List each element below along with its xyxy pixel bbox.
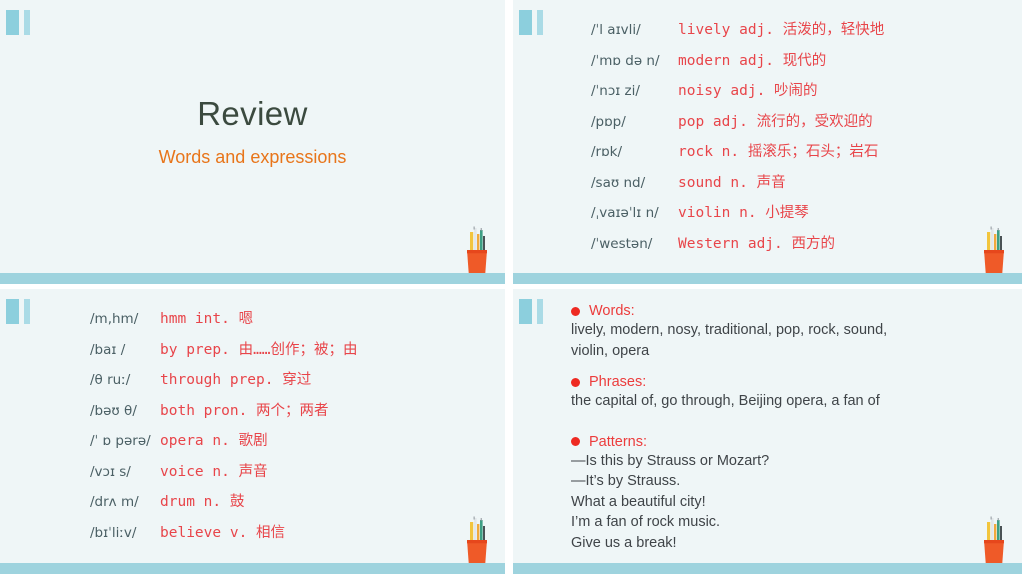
decoration-bar-wide [519, 299, 532, 324]
summary-line: Give us a break! [571, 533, 1004, 554]
phonetic-transcription: /pɒp/ [513, 114, 678, 130]
word-definition: violin n. 小提琴 [678, 201, 809, 222]
phonetic-transcription: /ˈl aɪvli/ [513, 22, 678, 38]
summary-content: Words: lively, modern, nosy, traditional… [571, 303, 1004, 556]
slide-grid: Review Words and expressions /ˈl aɪvli/ … [0, 0, 1024, 577]
footer-band [513, 273, 1022, 284]
summary-heading-patterns: Patterns: [571, 434, 1004, 450]
vocabulary-row: /ˈ ɒ pərə/ opera n. 歌剧 [0, 429, 505, 460]
word-definition: sound n. 声音 [678, 171, 786, 192]
phonetic-transcription: /baɪ / [0, 342, 160, 358]
vocabulary-row: /rɒk/ rock n. 摇滚乐；石头；岩石 [513, 140, 1022, 171]
bullet-dot-icon [571, 307, 580, 316]
title-block: Review Words and expressions [0, 96, 505, 168]
pencil-cup-icon [461, 514, 491, 564]
summary-line: I’m a fan of rock music. [571, 512, 1004, 533]
summary-heading-label: Words: [589, 303, 635, 319]
vocabulary-row: /ˈl aɪvli/ lively adj. 活泼的，轻快地 [513, 18, 1022, 49]
summary-line: —It’s by Strauss. [571, 471, 1004, 492]
summary-heading-words: Words: [571, 303, 1004, 319]
pencil-cup-icon [978, 514, 1008, 564]
summary-line: violin, opera [571, 341, 1004, 362]
phonetic-transcription: /ˈ ɒ pərə/ [0, 433, 160, 449]
spacer [571, 414, 1004, 434]
slide-vocabulary-2[interactable]: /m,hm/ hmm int. 嗯 /baɪ / by prep. 由……创作；… [0, 289, 505, 574]
vocabulary-list-2: /m,hm/ hmm int. 嗯 /baɪ / by prep. 由……创作；… [0, 307, 505, 551]
page-subtitle: Words and expressions [0, 147, 505, 168]
vocabulary-row: /vɔɪ s/ voice n. 声音 [0, 460, 505, 491]
phonetic-transcription: /θ ruː/ [0, 372, 160, 388]
word-definition: through prep. 穿过 [160, 368, 311, 389]
vocabulary-row: /saʊ nd/ sound n. 声音 [513, 171, 1022, 202]
slide-vocabulary-1[interactable]: /ˈl aɪvli/ lively adj. 活泼的，轻快地 /ˈmɒ də n… [513, 0, 1022, 284]
slide-title[interactable]: Review Words and expressions [0, 0, 505, 284]
vocabulary-row: /bəʊ θ/ both pron. 两个；两者 [0, 399, 505, 430]
summary-heading-label: Patterns: [589, 434, 647, 450]
slide-summary[interactable]: Words: lively, modern, nosy, traditional… [513, 289, 1022, 574]
vocabulary-row: /ˈnɔɪ zi/ noisy adj. 吵闹的 [513, 79, 1022, 110]
phonetic-transcription: /ˈnɔɪ zi/ [513, 83, 678, 99]
summary-heading-label: Phrases: [589, 374, 646, 390]
vocabulary-row: /ˌvaɪəˈlɪ n/ violin n. 小提琴 [513, 201, 1022, 232]
bullet-dot-icon [571, 378, 580, 387]
word-definition: pop adj. 流行的，受欢迎的 [678, 110, 873, 131]
phonetic-transcription: /ˈwestən/ [513, 236, 678, 252]
vocabulary-row: /drʌ m/ drum n. 鼓 [0, 490, 505, 521]
word-definition: noisy adj. 吵闹的 [678, 79, 818, 100]
vocabulary-row: /pɒp/ pop adj. 流行的，受欢迎的 [513, 110, 1022, 141]
phonetic-transcription: /m,hm/ [0, 311, 160, 327]
page-title: Review [0, 96, 505, 132]
word-definition: Western adj. 西方的 [678, 232, 835, 253]
bullet-dot-icon [571, 437, 580, 446]
vocabulary-row: /θ ruː/ through prep. 穿过 [0, 368, 505, 399]
word-definition: by prep. 由……创作；被；由 [160, 338, 358, 359]
phonetic-transcription: /ˈmɒ də n/ [513, 53, 678, 69]
phonetic-transcription: /ˌvaɪəˈlɪ n/ [513, 205, 678, 221]
word-definition: believe v. 相信 [160, 521, 285, 542]
summary-block-patterns: Patterns: —Is this by Strauss or Mozart?… [571, 434, 1004, 554]
vocabulary-row: /bɪˈliːv/ believe v. 相信 [0, 521, 505, 552]
vocabulary-row: /baɪ / by prep. 由……创作；被；由 [0, 338, 505, 369]
word-definition: opera n. 歌剧 [160, 429, 268, 450]
summary-block-words: Words: lively, modern, nosy, traditional… [571, 303, 1004, 361]
twin-bar-decoration [519, 299, 543, 324]
vocabulary-row: /ˈwestən/ Western adj. 西方的 [513, 232, 1022, 263]
word-definition: both pron. 两个；两者 [160, 399, 329, 420]
footer-band [513, 563, 1022, 574]
pencil-cup-icon [978, 224, 1008, 274]
summary-line: What a beautiful city! [571, 492, 1004, 513]
decoration-bar-narrow [24, 10, 30, 35]
summary-line: the capital of, go through, Beijing oper… [571, 391, 1004, 412]
summary-body-words: lively, modern, nosy, traditional, pop, … [571, 320, 1004, 361]
decoration-bar-wide [6, 10, 19, 35]
footer-band [0, 273, 505, 284]
summary-body-patterns: —Is this by Strauss or Mozart? —It’s by … [571, 451, 1004, 554]
phonetic-transcription: /rɒk/ [513, 144, 678, 160]
decoration-bar-narrow [537, 299, 543, 324]
summary-block-phrases: Phrases: the capital of, go through, Bei… [571, 374, 1004, 412]
word-definition: drum n. 鼓 [160, 490, 244, 511]
summary-body-phrases: the capital of, go through, Beijing oper… [571, 391, 1004, 412]
phonetic-transcription: /saʊ nd/ [513, 175, 678, 191]
vocabulary-list-1: /ˈl aɪvli/ lively adj. 活泼的，轻快地 /ˈmɒ də n… [513, 18, 1022, 262]
phonetic-transcription: /bɪˈliːv/ [0, 525, 160, 541]
summary-line: —Is this by Strauss or Mozart? [571, 451, 1004, 472]
pencil-cup-icon [461, 224, 491, 274]
footer-band [0, 563, 505, 574]
phonetic-transcription: /vɔɪ s/ [0, 464, 160, 480]
phonetic-transcription: /bəʊ θ/ [0, 403, 160, 419]
spacer [571, 363, 1004, 374]
summary-heading-phrases: Phrases: [571, 374, 1004, 390]
word-definition: rock n. 摇滚乐；石头；岩石 [678, 140, 878, 161]
word-definition: lively adj. 活泼的，轻快地 [678, 18, 884, 39]
word-definition: voice n. 声音 [160, 460, 268, 481]
word-definition: hmm int. 嗯 [160, 307, 253, 328]
word-definition: modern adj. 现代的 [678, 49, 826, 70]
vocabulary-row: /ˈmɒ də n/ modern adj. 现代的 [513, 49, 1022, 80]
twin-bar-decoration [6, 10, 30, 35]
vocabulary-row: /m,hm/ hmm int. 嗯 [0, 307, 505, 338]
phonetic-transcription: /drʌ m/ [0, 494, 160, 510]
summary-line: lively, modern, nosy, traditional, pop, … [571, 320, 1004, 341]
